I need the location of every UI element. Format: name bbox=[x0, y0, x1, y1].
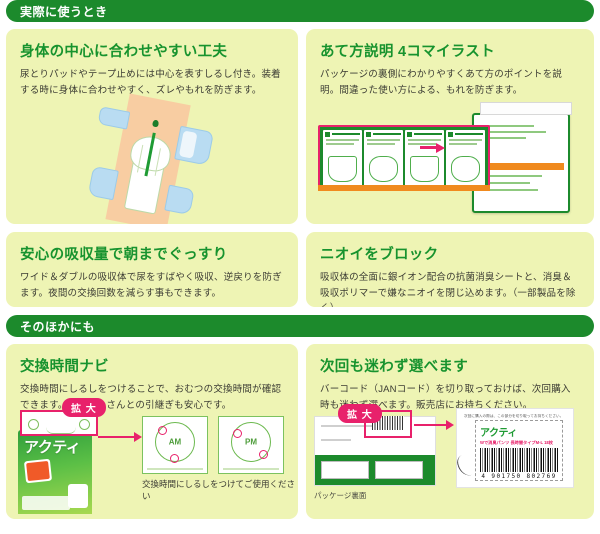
panel-heading-line bbox=[414, 133, 442, 135]
time-navi-caption: 交換時間にしるしをつけてご使用ください bbox=[142, 478, 298, 502]
figure-package-back bbox=[316, 109, 588, 217]
card-absorption: 安心の吸収量で朝までぐっすり ワイド＆ダブルの吸収体で尿をすばやく吸収、逆戻りを… bbox=[6, 232, 298, 307]
panel-number-icon bbox=[407, 132, 412, 137]
card-barcode-pick: 次回も迷わず選べます バーコード（JANコード）を切り取っておけば、次回購入時も… bbox=[306, 344, 594, 519]
panel-number-icon bbox=[448, 132, 453, 137]
package-product-photo bbox=[68, 484, 88, 508]
wing-right-lower bbox=[164, 185, 194, 215]
section-header-other-features: そのほかにも bbox=[6, 315, 594, 337]
panel-illustration bbox=[369, 156, 398, 182]
clock-card-pm: PM bbox=[218, 416, 284, 474]
panel-heading-line bbox=[332, 133, 360, 135]
panel-number-icon bbox=[366, 132, 371, 137]
panel-illustration bbox=[451, 156, 480, 182]
panel-illustration bbox=[410, 156, 439, 182]
package-info-box bbox=[375, 461, 423, 479]
section-header-label: そのほかにも bbox=[20, 318, 95, 335]
panel-text-line bbox=[449, 143, 477, 145]
card-body: ワイド＆ダブルの吸収体で尿をすばやく吸収、逆戻りを防ぎます。夜間の交換回数を減ら… bbox=[20, 270, 284, 301]
barcode-note: 次回に購入の際は、この部分を切り取ってお持ちください。 bbox=[464, 414, 566, 419]
section-header-actual-use: 実際に使うとき bbox=[6, 0, 594, 22]
package-badge-inner bbox=[26, 461, 50, 481]
instruction-panel-2 bbox=[364, 130, 403, 186]
callout-arrow-icon bbox=[134, 432, 142, 442]
package-caption: パッケージ裏面 bbox=[314, 490, 366, 501]
callout-arrow-icon bbox=[436, 143, 445, 153]
clock-label-am: AM bbox=[169, 437, 181, 446]
card-center-fit: 身体の中心に合わせやすい工夫 尿とりパッドやテープ止めには中心を表すしるし付き。… bbox=[6, 29, 298, 224]
instruction-panel-4 bbox=[446, 130, 485, 186]
package-text-line bbox=[321, 439, 351, 441]
zoom-badge-label: 拡 大 bbox=[338, 404, 382, 423]
barcode-product-line: Wで消臭パンツ 長時間タイプM-L 18枚 bbox=[480, 440, 558, 446]
card-body: パッケージの裏側にわかりやすくあて方のポイントを説明。間違った使い方による、もれ… bbox=[320, 67, 580, 98]
product-feature-page: 実際に使うとき 身体の中心に合わせやすい工夫 尿とりパッドやテープ止めには中心を… bbox=[0, 0, 600, 534]
package-top-flap bbox=[480, 102, 572, 115]
panel-text-line bbox=[326, 139, 359, 141]
clock-label-pm: PM bbox=[245, 437, 257, 446]
instruction-panel-1 bbox=[323, 130, 362, 186]
package-badge bbox=[24, 459, 52, 484]
panel-text-line bbox=[367, 139, 400, 141]
package-info-strip bbox=[22, 496, 70, 510]
clock-mark-icon bbox=[259, 450, 268, 459]
card-title: 次回も迷わず選べます bbox=[320, 355, 580, 376]
clock-dial-am: AM bbox=[155, 422, 195, 462]
wing-left-upper bbox=[97, 106, 130, 129]
clock-card-am: AM bbox=[142, 416, 208, 474]
card-body: 吸収体の全面に銀イオン配合の抗菌消臭シートと、消臭＆吸収ポリマーで嫌なニオイを閉… bbox=[320, 270, 580, 307]
clock-mark-icon bbox=[170, 454, 179, 463]
package-text-line bbox=[482, 189, 538, 191]
time-mark-write-line bbox=[46, 427, 76, 434]
strip-orange-underline bbox=[318, 185, 490, 191]
clock-mark-icon bbox=[233, 429, 242, 438]
panel-text-line bbox=[326, 143, 354, 145]
pad-illustration bbox=[68, 94, 237, 224]
package-text-line bbox=[482, 131, 546, 133]
panel-text-line bbox=[408, 143, 436, 145]
card-row-second: 安心の吸収量で朝までぐっすり ワイド＆ダブルの吸収体で尿をすばやく吸収、逆戻りを… bbox=[6, 232, 594, 307]
panel-text-line bbox=[449, 139, 482, 141]
package-orange-stripe bbox=[478, 163, 564, 170]
callout-arrow-tail bbox=[414, 424, 448, 426]
section-header-label: 実際に使うとき bbox=[20, 3, 108, 20]
barcode-bars bbox=[480, 448, 558, 472]
card-title: 安心の吸収量で朝までぐっすり bbox=[20, 243, 284, 264]
time-mark-circle-left-icon bbox=[28, 419, 39, 430]
barcode-number: 4 901750 802769 bbox=[480, 473, 558, 480]
panel-heading-line bbox=[455, 133, 483, 135]
package-info-box bbox=[321, 461, 369, 479]
card-title: あて方説明 4コマイラスト bbox=[320, 40, 580, 61]
clock-mark-icon bbox=[158, 426, 167, 435]
barcode-cutout: アクティ Wで消臭パンツ 長時間タイプM-L 18枚 4 901750 8027… bbox=[475, 420, 563, 481]
figure-barcode: 拡 大 次回に購入の際は、この部分を切り取ってお持ちください。 アクティ Wで消… bbox=[306, 402, 594, 514]
time-mark-circle-right-icon bbox=[79, 419, 90, 430]
card-title: 身体の中心に合わせやすい工夫 bbox=[20, 40, 284, 61]
callout-arrow-tail bbox=[98, 436, 136, 438]
card-body: 尿とりパッドやテープ止めには中心を表すしるし付き。装着する時に身体に合わせやすく… bbox=[20, 67, 284, 98]
card-title: ニオイをブロック bbox=[320, 243, 580, 264]
package-back-inner bbox=[478, 119, 564, 207]
barcode-enlarged-card: 次回に購入の際は、この部分を切り取ってお持ちください。 アクティ Wで消臭パンツ… bbox=[456, 408, 574, 488]
clock-dial-pm: PM bbox=[231, 422, 271, 462]
panel-number-icon bbox=[325, 132, 330, 137]
card-odor-block: ニオイをブロック 吸収体の全面に銀イオン配合の抗菌消臭シートと、消臭＆吸収ポリマ… bbox=[306, 232, 594, 307]
card-time-navi: 交換時間ナビ 交換時間にしるしをつけることで、おむつの交換時間が確認できます。ヘ… bbox=[6, 344, 298, 519]
figure-time-navi: アクティ 拡 大 AM bbox=[6, 402, 298, 514]
figure-pad-on-body bbox=[6, 107, 298, 219]
panel-illustration bbox=[328, 156, 357, 182]
clock-card-caption-line bbox=[147, 468, 203, 470]
panel-text-line bbox=[408, 139, 441, 141]
card-row-top: 身体の中心に合わせやすい工夫 尿とりパッドやテープ止めには中心を表すしるし付き。… bbox=[6, 29, 594, 224]
card-four-panel-illustration: あて方説明 4コマイラスト パッケージの裏側にわかりやすくあて方のポイントを説明… bbox=[306, 29, 594, 224]
acty-brand-logo: アクティ bbox=[24, 436, 80, 457]
zoom-badge-label: 拡 大 bbox=[62, 398, 106, 417]
package-text-line bbox=[482, 175, 542, 177]
panel-text-line bbox=[367, 143, 395, 145]
clock-card-caption-line bbox=[223, 468, 279, 470]
instruction-panel-3 bbox=[405, 130, 444, 186]
callout-arrow-icon bbox=[446, 420, 454, 430]
barcode-brand: アクティ bbox=[480, 424, 558, 439]
panel-heading-line bbox=[373, 133, 401, 135]
card-title: 交換時間ナビ bbox=[20, 355, 284, 376]
card-row-bottom: 交換時間ナビ 交換時間にしるしをつけることで、おむつの交換時間が確認できます。ヘ… bbox=[6, 344, 594, 519]
four-panel-strip-highlight bbox=[318, 125, 490, 191]
acty-package: アクティ bbox=[18, 430, 92, 514]
